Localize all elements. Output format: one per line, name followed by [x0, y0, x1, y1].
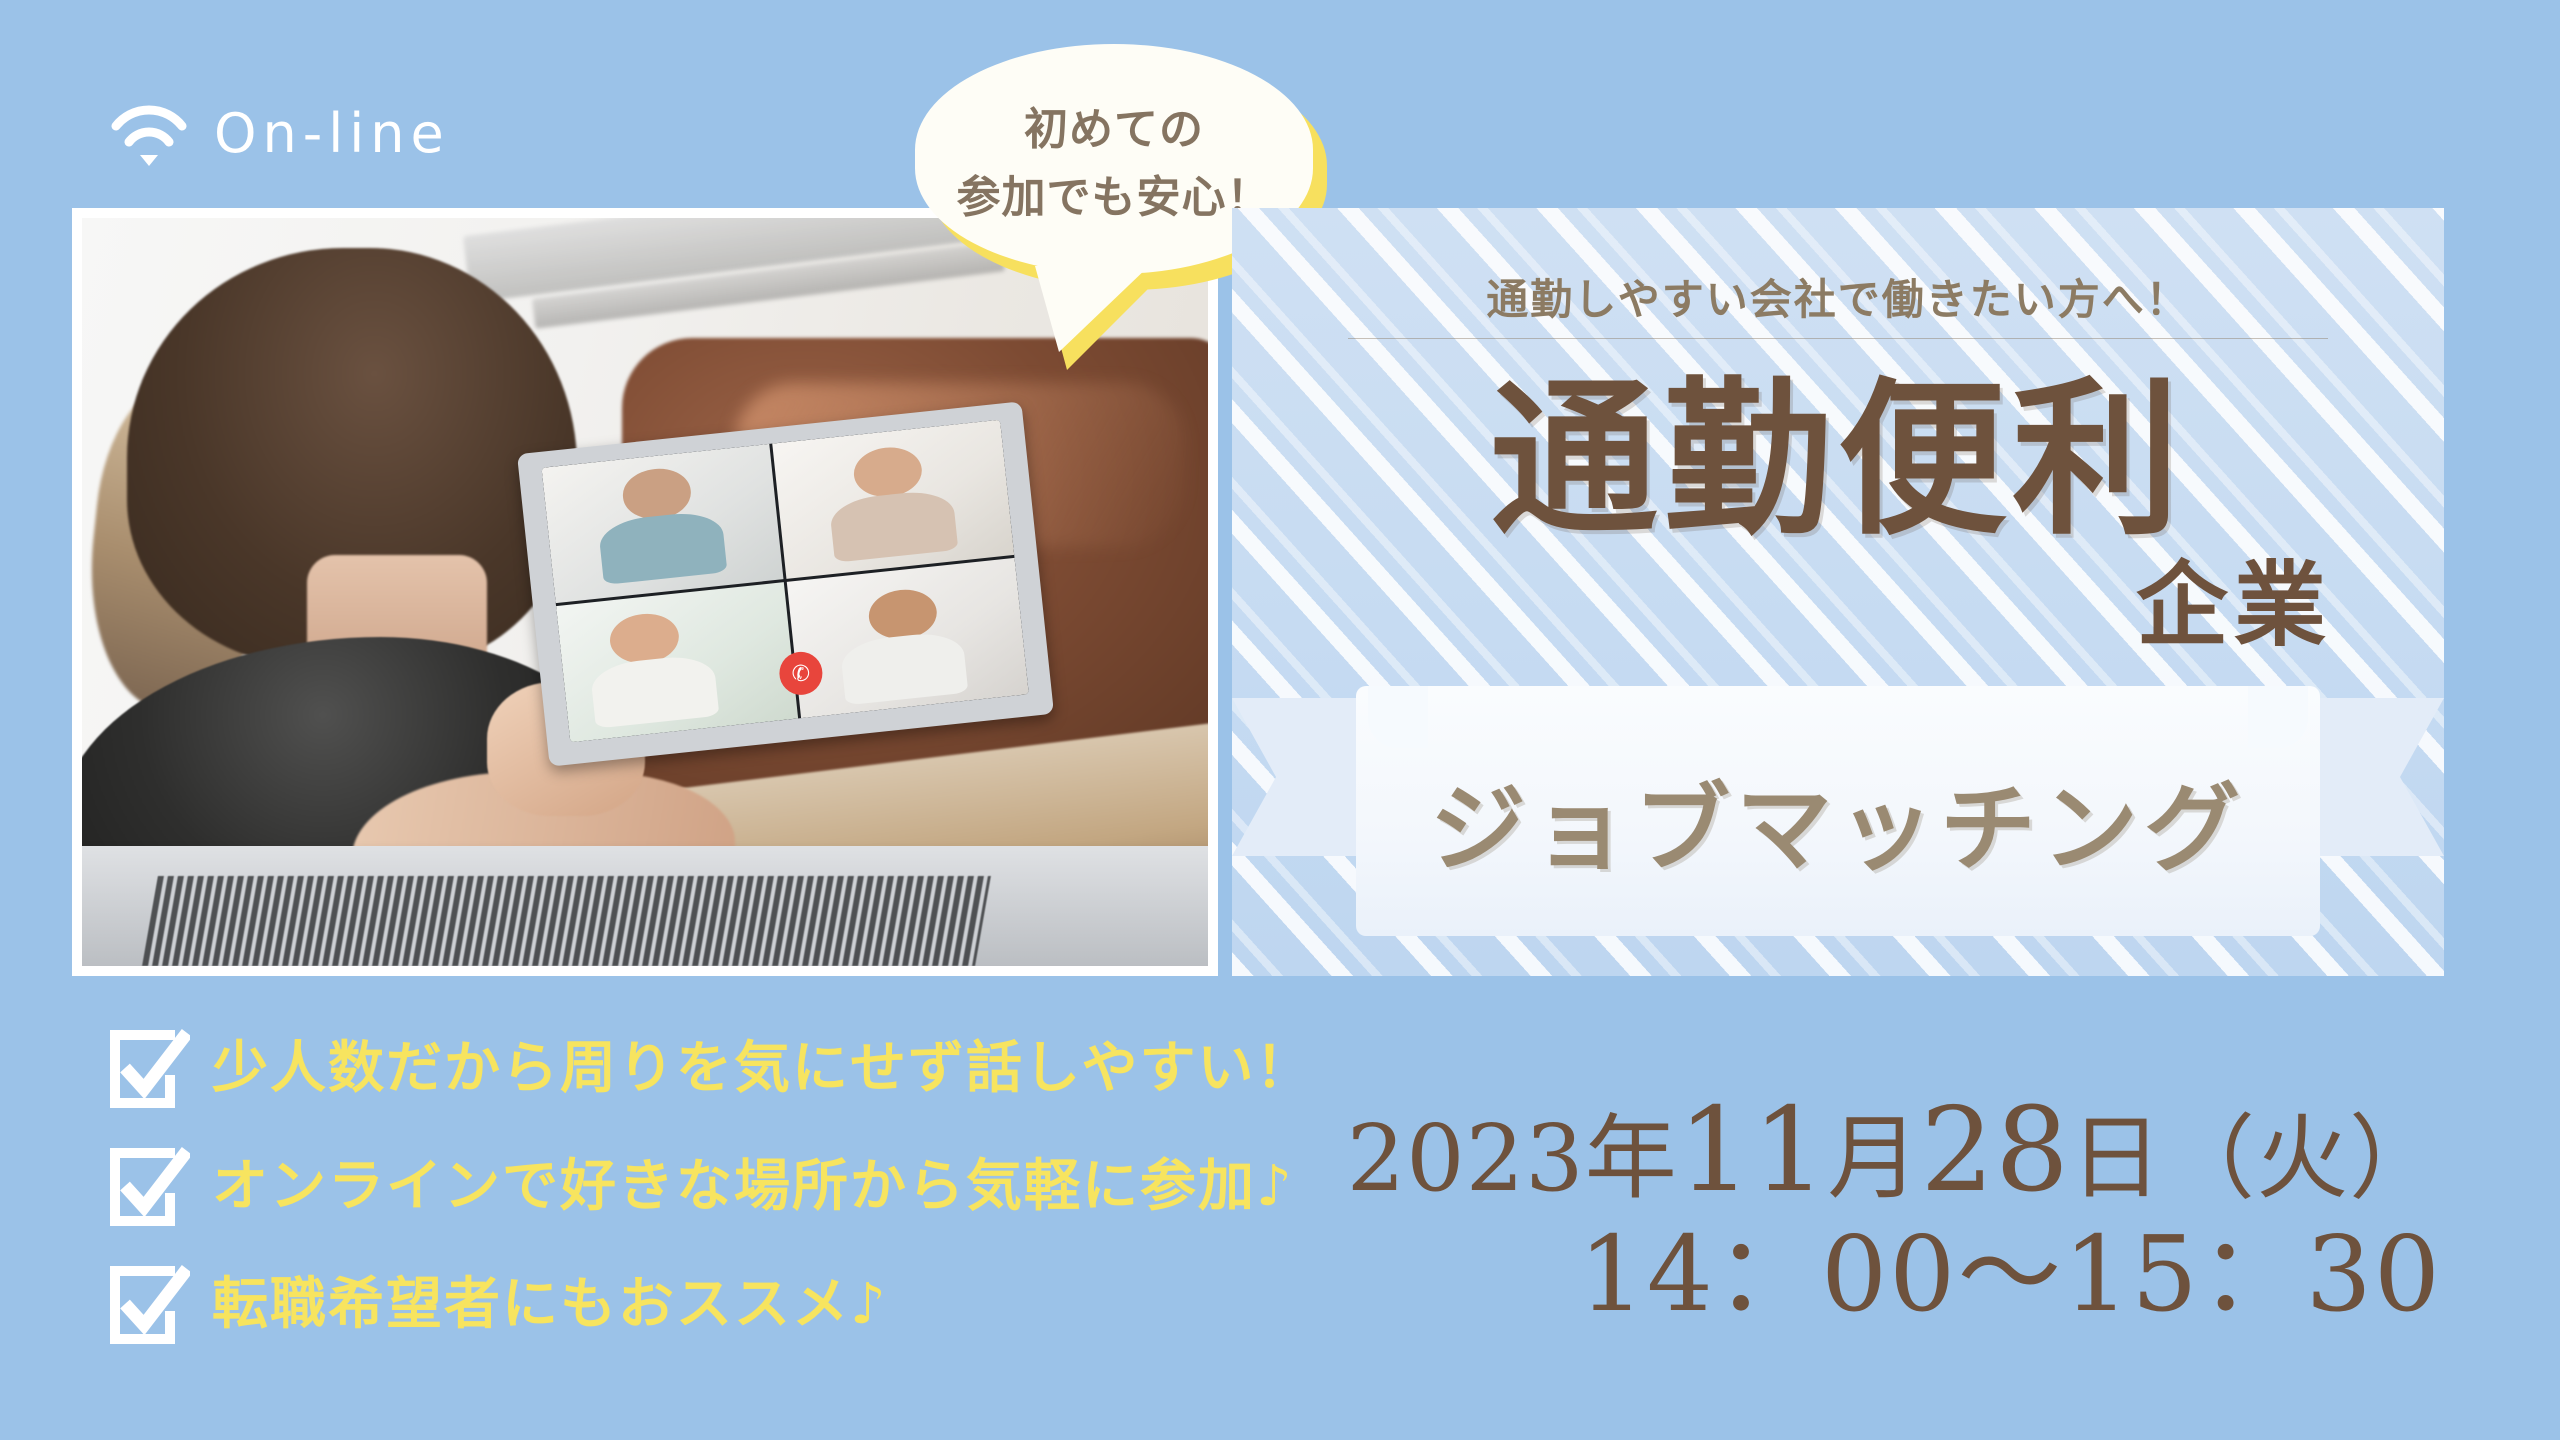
event-date: 2023年11月28日（火）	[1347, 1086, 2442, 1216]
panel-divider	[1348, 338, 2328, 339]
title-panel-inner: 通勤しやすい会社で働きたい方へ！ 通勤便利 企業 ジョブマッチング	[1232, 208, 2444, 976]
video-tile	[772, 420, 1014, 580]
event-year-unit: 年	[1585, 1105, 1678, 1212]
panel-subtitle: 企業	[2136, 560, 2332, 652]
event-weekday: （火）	[2163, 1105, 2442, 1212]
wifi-icon	[110, 100, 188, 168]
event-schedule: 2023年11月28日（火） 14：00〜15：30	[1347, 1086, 2442, 1332]
checklist-item-label: 少人数だから周りを気にせず話しやすい！	[212, 1041, 1313, 1097]
event-time: 14：00〜15：30	[1347, 1216, 2442, 1332]
event-year: 2023	[1347, 1105, 1585, 1212]
checklist-item-label: オンラインで好きな場所から気軽に参加♪	[212, 1159, 1294, 1215]
panel-title: 通勤便利	[1232, 376, 2444, 544]
checkbox-checked-icon	[108, 1264, 190, 1346]
photo-video-call-grid	[542, 420, 1029, 743]
bubble-line-1: 初めての	[1024, 93, 1204, 157]
online-badge: On-line	[110, 100, 450, 168]
event-day: 28	[1920, 1083, 2070, 1218]
photo-laptop: ✆	[517, 402, 1054, 767]
speech-bubble-tail	[1035, 266, 1149, 352]
photo-laptop-keyboard	[142, 876, 991, 966]
ribbon-label: ジョブマッチング	[1430, 781, 2246, 877]
ribbon-notch-left	[1368, 686, 1428, 748]
checklist-item: 少人数だから周りを気にせず話しやすい！	[108, 1028, 1313, 1110]
participant-body	[590, 654, 720, 729]
benefits-checklist: 少人数だから周りを気にせず話しやすい！ オンラインで好きな場所から気軽に参加♪ …	[108, 1028, 1313, 1382]
poster-canvas: On-line	[0, 0, 2560, 1440]
title-panel: 通勤しやすい会社で働きたい方へ！ 通勤便利 企業 ジョブマッチング	[1232, 208, 2444, 976]
video-tile	[556, 583, 798, 743]
ribbon-notch-right	[2248, 686, 2308, 748]
video-tile	[787, 559, 1029, 719]
checkbox-checked-icon	[108, 1028, 190, 1110]
participant-body	[598, 510, 728, 585]
ribbon-banner: ジョブマッチング	[1232, 686, 2444, 936]
participant-body	[829, 488, 959, 563]
ribbon-band: ジョブマッチング	[1356, 686, 2320, 936]
checklist-item-label: 転職希望者にもおススメ♪	[212, 1277, 888, 1333]
event-day-unit: 日	[2070, 1105, 2163, 1212]
bubble-line-2: 参加でも安心！	[957, 161, 1272, 225]
video-tile	[542, 444, 784, 604]
checklist-item: 転職希望者にもおススメ♪	[108, 1264, 1313, 1346]
online-label: On-line	[214, 107, 450, 161]
checklist-item: オンラインで好きな場所から気軽に参加♪	[108, 1146, 1313, 1228]
participant-body	[839, 630, 969, 705]
panel-kicker: 通勤しやすい会社で働きたい方へ！	[1232, 266, 2444, 327]
event-month: 11	[1678, 1083, 1828, 1218]
checkbox-checked-icon	[108, 1146, 190, 1228]
event-month-unit: 月	[1827, 1105, 1920, 1212]
